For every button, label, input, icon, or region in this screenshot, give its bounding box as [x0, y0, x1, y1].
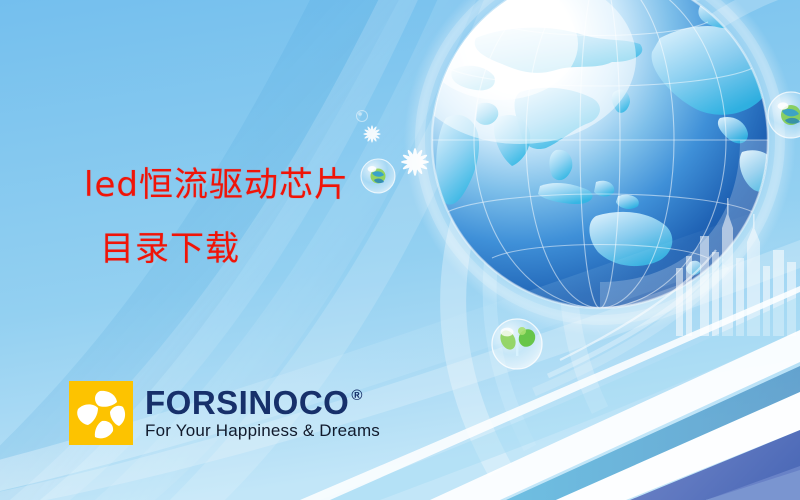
title-line-2: 目录下载 — [100, 227, 349, 271]
logo-text-block: FORSINOCO ® For Your Happiness & Dreams — [145, 381, 380, 445]
company-logo[interactable]: FORSINOCO ® For Your Happiness & Dreams — [69, 381, 380, 445]
logo-tagline: For Your Happiness & Dreams — [145, 421, 380, 441]
title-line-1: led恒流驱动芯片 — [84, 163, 349, 207]
bubble-sprout-icon — [492, 319, 542, 369]
pinwheel-icon — [69, 381, 133, 445]
bubble-globe-icon — [361, 159, 395, 193]
logo-wordmark-row: FORSINOCO ® — [145, 386, 380, 420]
catalog-banner: led恒流驱动芯片 目录下载 FORSINOCO — [0, 0, 800, 500]
banner-title: led恒流驱动芯片 目录下载 — [84, 163, 349, 271]
registered-trademark-icon: ® — [351, 388, 363, 403]
logo-wordmark-text: FORSINOCO — [145, 386, 349, 420]
forsinoco-pinwheel-mark — [69, 381, 133, 445]
